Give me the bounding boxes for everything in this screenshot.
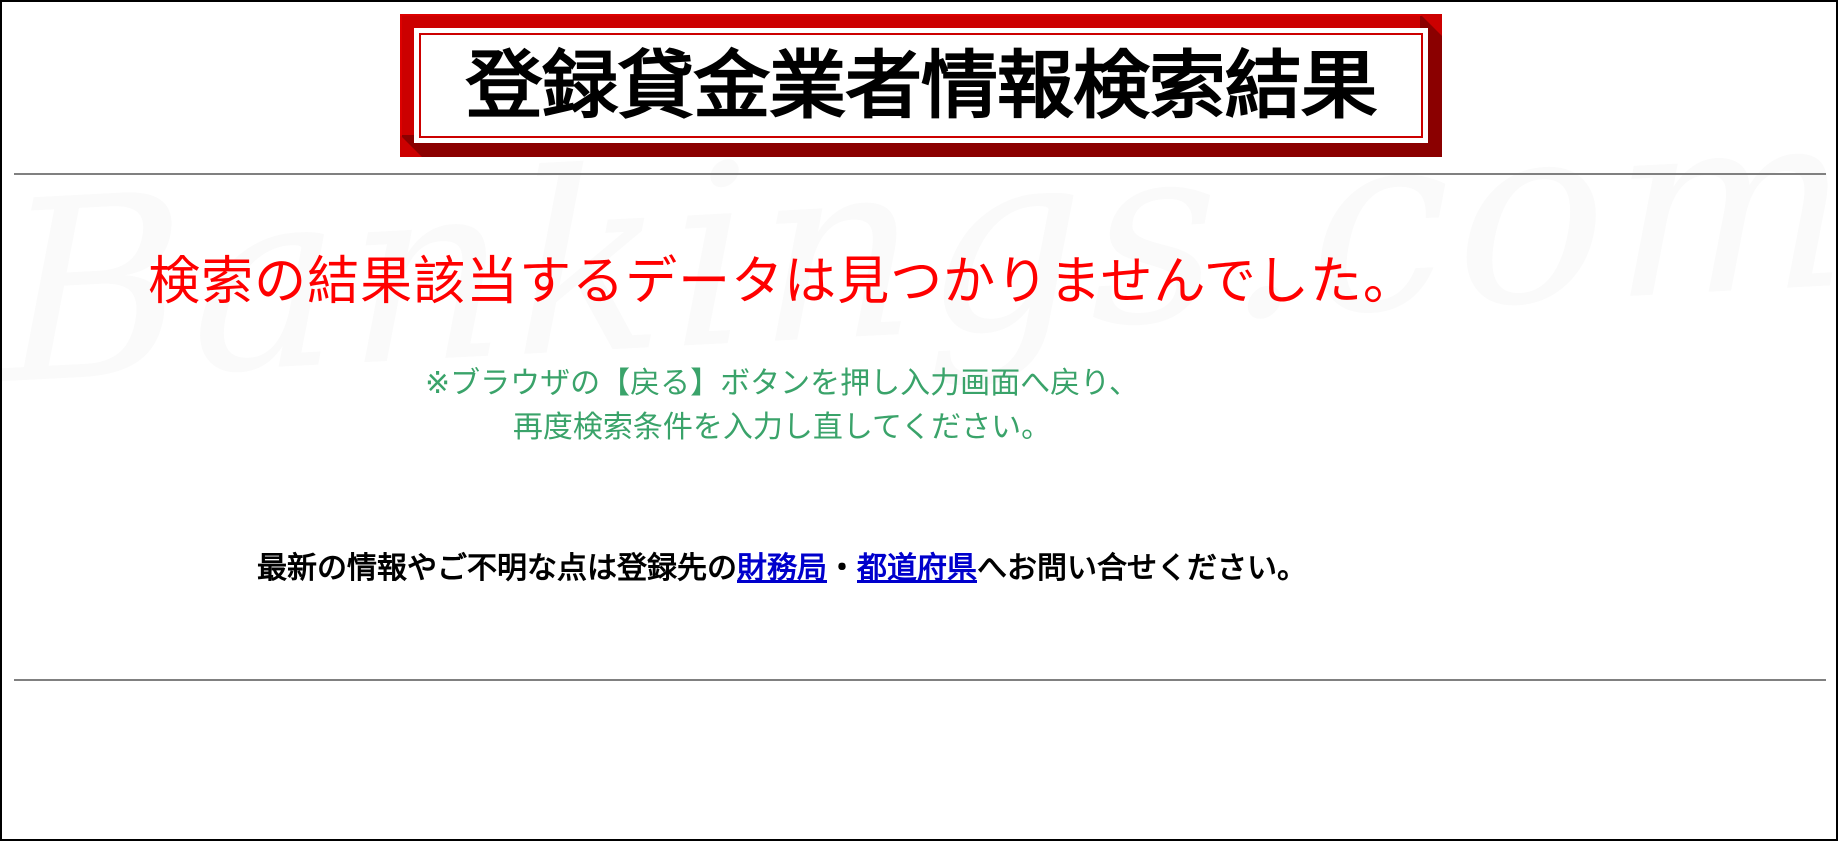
banner-inner-panel: 登録貸金業者情報検索結果 xyxy=(414,28,1428,143)
divider-bottom xyxy=(14,679,1826,681)
contact-prefix: 最新の情報やご不明な点は登録先の xyxy=(257,551,737,586)
link-todofuken[interactable]: 都道府県 xyxy=(857,551,977,586)
search-result-page: Bankings.com 登録貸金業者情報検索結果 検索の結果該当するデータは見… xyxy=(0,0,1838,841)
banner-inner-border: 登録貸金業者情報検索結果 xyxy=(419,33,1423,138)
retry-hint-line-2: 再度検索条件を入力し直してください。 xyxy=(2,406,1562,450)
contact-notice: 最新の情報やご不明な点は登録先の財務局・都道府県へお問い合せください。 xyxy=(2,543,1562,587)
divider-top xyxy=(14,173,1826,175)
no-result-message: 検索の結果該当するデータは見つかりませんでした。 xyxy=(2,239,1562,314)
contact-suffix: へお問い合せください。 xyxy=(977,551,1307,586)
page-title: 登録貸金業者情報検索結果 xyxy=(465,49,1376,123)
link-zaimukyoku[interactable]: 財務局 xyxy=(737,551,827,586)
page-title-banner: 登録貸金業者情報検索結果 xyxy=(400,14,1442,157)
retry-hint-line-1: ※ブラウザの【戻る】ボタンを押し入力画面へ戻り、 xyxy=(2,362,1562,406)
contact-separator: ・ xyxy=(827,551,857,586)
retry-hint: ※ブラウザの【戻る】ボタンを押し入力画面へ戻り、 再度検索条件を入力し直してくだ… xyxy=(2,362,1562,449)
